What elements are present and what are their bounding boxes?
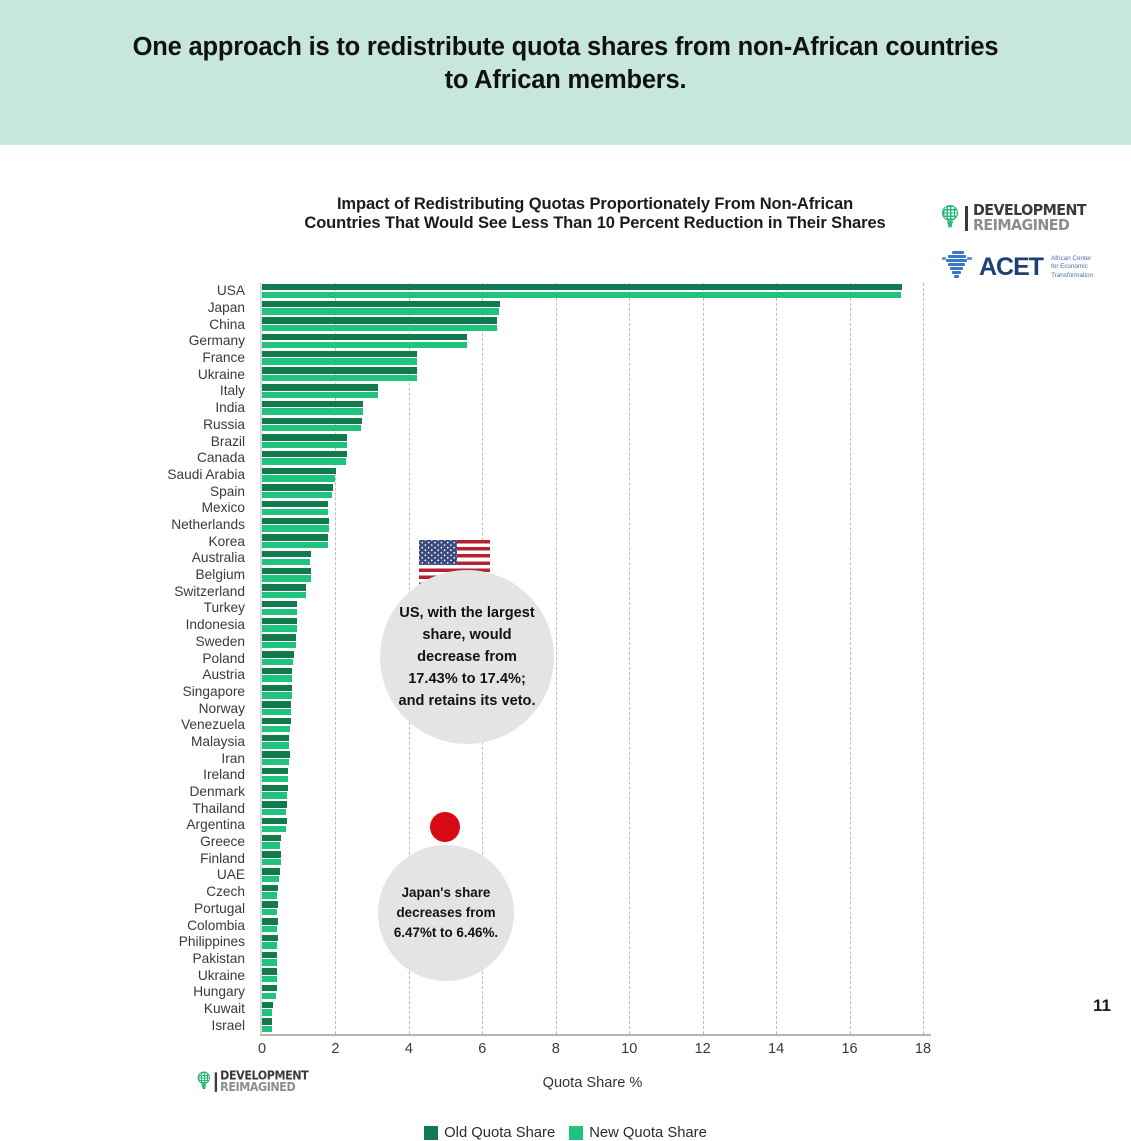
bar-old-quota-share [262,351,417,357]
acet-sub-line3: Transformation [1051,272,1093,281]
bar-old-quota-share [262,301,500,307]
bar-old-quota-share [262,685,292,691]
y-axis-label: Ukraine [198,368,245,382]
y-axis-label: Thailand [192,802,245,816]
bar-old-quota-share [262,768,288,774]
bar-old-quota-share [262,918,278,924]
bar-new-quota-share [262,625,297,631]
bar-old-quota-share [262,718,291,724]
bar-new-quota-share [262,408,363,414]
bar-old-quota-share [262,701,291,707]
bar-new-quota-share [262,675,292,681]
logo-stack: DEVELOPMENT REIMAGINED ACET African Cent… [940,203,1100,284]
bar-new-quota-share [262,358,417,364]
y-axis-label: Ukraine [198,969,245,983]
header-band: One approach is to redistribute quota sh… [0,0,1131,145]
y-axis-label: Norway [199,702,245,716]
lightbulb-globe-icon [196,1072,212,1092]
logo-text-line2: REIMAGINED [973,218,1086,233]
bar-old-quota-share [262,985,277,991]
logo-text-line2: REIMAGINED [220,1082,308,1094]
bar-old-quota-share [262,751,290,757]
y-axis-label: USA [217,284,245,298]
y-axis-label: Indonesia [186,618,245,632]
bar-new-quota-share [262,876,279,882]
bar-old-quota-share [262,651,294,657]
y-axis-label: Japan [208,301,245,315]
legend-label: New Quota Share [589,1125,707,1141]
development-reimagined-logo: DEVELOPMENT REIMAGINED [940,203,1100,233]
y-axis-label: France [202,351,245,365]
bar-old-quota-share [262,434,347,440]
y-axis-label: Italy [220,384,245,398]
bar-old-quota-share [262,801,287,807]
y-axis-label: Colombia [187,919,245,933]
y-axis-label: Australia [192,551,245,565]
y-axis-label: China [209,318,245,332]
y-axis-label: Korea [208,535,245,549]
y-axis-label: Iran [221,752,245,766]
bar-new-quota-share [262,392,378,398]
y-axis-label: Ireland [203,768,245,782]
bar-new-quota-share [262,509,328,515]
bar-new-quota-share [262,859,281,865]
bar-new-quota-share [262,525,329,531]
bar-row [262,1017,923,1036]
y-axis-label: Hungary [193,985,245,999]
bar-new-quota-share [262,842,280,848]
annotation-bubble-us: US, with the largest share, would decrea… [380,570,554,744]
x-axis-tick-label: 0 [258,1041,266,1057]
legend-item[interactable]: New Quota Share [569,1125,707,1141]
y-axis-label: Philippines [179,935,245,949]
bar-new-quota-share [262,709,291,715]
x-axis-tick-label: 16 [841,1041,857,1057]
bar-old-quota-share [262,584,306,590]
bar-old-quota-share [262,618,297,624]
chart-container: Impact of Redistributing Quotas Proporti… [0,145,1131,1024]
x-axis-tick-label: 14 [768,1041,784,1057]
x-axis-tick-label: 4 [405,1041,413,1057]
slide-headline: One approach is to redistribute quota sh… [126,31,1006,96]
bar-old-quota-share [262,835,281,841]
bar-old-quota-share [262,367,417,373]
acet-sub-line2: for Economic [1051,263,1093,272]
y-axis-label: Brazil [211,435,245,449]
bar-old-quota-share [262,885,278,891]
x-axis-tick-label: 8 [552,1041,560,1057]
x-axis-tick-label: 2 [331,1041,339,1057]
y-axis-label: Switzerland [174,585,245,599]
y-axis-label: Germany [189,334,245,348]
bar-new-quota-share [262,993,276,999]
bar-new-quota-share [262,609,297,615]
bar-old-quota-share [262,551,311,557]
bar-new-quota-share [262,1009,272,1015]
bar-new-quota-share [262,892,277,898]
bar-old-quota-share [262,668,292,674]
plot-area [262,283,923,1034]
y-axis-label: Turkey [204,601,245,615]
bar-new-quota-share [262,492,332,498]
y-axis-label: Czech [206,885,245,899]
bar-new-quota-share [262,809,286,815]
x-axis-ticks: 024681012141618 [262,1041,923,1067]
gridline [923,283,924,1034]
bar-new-quota-share [262,592,306,598]
bar-new-quota-share [262,742,289,748]
bar-new-quota-share [262,542,328,548]
bar-new-quota-share [262,776,288,782]
page-number: 11 [1093,996,1111,1016]
x-axis-tick-label: 18 [915,1041,931,1057]
logo-text-line1: DEVELOPMENT [220,1070,308,1082]
bar-old-quota-share [262,634,296,640]
y-axis-label: Denmark [189,785,245,799]
y-axis-label: Belgium [196,568,245,582]
logo-divider [965,206,968,231]
y-axis-label: Malaysia [191,735,245,749]
legend-label: Old Quota Share [444,1125,555,1141]
acet-logo: ACET African Center for Economic Transfo… [940,250,1100,284]
y-axis-label: UAE [217,868,245,882]
y-axis-label: Canada [197,451,245,465]
x-axis-tick-label: 12 [695,1041,711,1057]
y-axis-label: Poland [202,652,245,666]
bar-old-quota-share [262,601,297,607]
bar-new-quota-share [262,959,277,965]
bar-new-quota-share [262,575,311,581]
bar-old-quota-share [262,518,329,524]
bar-old-quota-share [262,284,902,290]
y-axis-label: Sweden [196,635,245,649]
y-axis-label: Argentina [186,818,245,832]
y-axis-label: Greece [200,835,245,849]
bar-old-quota-share [262,818,287,824]
bar-old-quota-share [262,334,467,340]
logo-divider [215,1072,217,1092]
y-axis-label: Mexico [202,501,245,515]
bar-new-quota-share [262,659,293,665]
bar-new-quota-share [262,976,277,982]
annotation-bubble-japan: Japan's share decreases from 6.47%t to 6… [378,845,514,981]
bar-new-quota-share [262,325,497,331]
bar-new-quota-share [262,559,310,565]
bar-old-quota-share [262,935,278,941]
bar-new-quota-share [262,792,287,798]
bar-old-quota-share [262,785,288,791]
bar-new-quota-share [262,926,277,932]
africa-map-icon [940,250,974,284]
bar-new-quota-share [262,308,499,314]
bar-new-quota-share [262,726,290,732]
annotation-text-japan: Japan's share decreases from 6.47%t to 6… [390,883,502,943]
bar-new-quota-share [262,692,292,698]
development-reimagined-logo-footer: DEVELOPMENT REIMAGINED [196,1070,316,1094]
bar-old-quota-share [262,568,311,574]
y-axis-label: Saudi Arabia [167,468,245,482]
bar-old-quota-share [262,851,281,857]
bar-new-quota-share [262,442,347,448]
bar-old-quota-share [262,868,280,874]
bar-new-quota-share [262,458,346,464]
bar-new-quota-share [262,292,901,298]
acet-wordmark: ACET [979,253,1043,282]
y-axis-label: Spain [210,485,245,499]
y-axis-label: Russia [203,418,245,432]
bar-old-quota-share [262,1002,273,1008]
y-axis-label: Austria [202,668,245,682]
bar-new-quota-share [262,909,277,915]
bar-new-quota-share [262,1026,272,1032]
bar-old-quota-share [262,384,378,390]
bar-old-quota-share [262,534,328,540]
y-axis-label: Netherlands [171,518,245,532]
bar-old-quota-share [262,952,277,958]
y-axis-label: Venezuela [181,718,245,732]
bar-old-quota-share [262,968,277,974]
annotation-text-us: US, with the largest share, would decrea… [397,602,537,713]
bar-old-quota-share [262,317,497,323]
bar-old-quota-share [262,901,278,907]
x-axis-tick-label: 6 [478,1041,486,1057]
bar-old-quota-share [262,484,333,490]
y-axis-label: Singapore [183,685,245,699]
bar-new-quota-share [262,942,277,948]
bar-old-quota-share [262,735,289,741]
bar-old-quota-share [262,418,362,424]
bar-old-quota-share [262,451,347,457]
bar-old-quota-share [262,468,336,474]
bar-new-quota-share [262,475,335,481]
bar-new-quota-share [262,826,286,832]
bar-new-quota-share [262,375,417,381]
bar-new-quota-share [262,759,289,765]
legend-swatch [424,1126,438,1140]
y-axis-labels: USAJapanChinaGermanyFranceUkraineItalyIn… [0,283,255,1034]
acet-sub-line1: African Center [1051,255,1093,264]
legend-swatch [569,1126,583,1140]
y-axis-label: Finland [200,852,245,866]
lightbulb-globe-icon [940,205,960,231]
bar-old-quota-share [262,401,363,407]
y-axis-label: Kuwait [204,1002,245,1016]
bar-old-quota-share [262,501,328,507]
bar-new-quota-share [262,425,361,431]
y-axis-label: India [215,401,245,415]
x-axis-title: Quota Share % [262,1075,923,1091]
x-axis-tick-label: 10 [621,1041,637,1057]
y-axis-label: Israel [212,1019,245,1033]
bar-new-quota-share [262,642,296,648]
bar-new-quota-share [262,342,467,348]
japan-flag-icon [413,805,477,849]
chart-legend: Old Quota ShareNew Quota Share [0,1125,1131,1141]
chart-title: Impact of Redistributing Quotas Proporti… [300,195,890,234]
y-axis-label: Pakistan [193,952,246,966]
y-axis-label: Portugal [194,902,245,916]
legend-item[interactable]: Old Quota Share [424,1125,555,1141]
